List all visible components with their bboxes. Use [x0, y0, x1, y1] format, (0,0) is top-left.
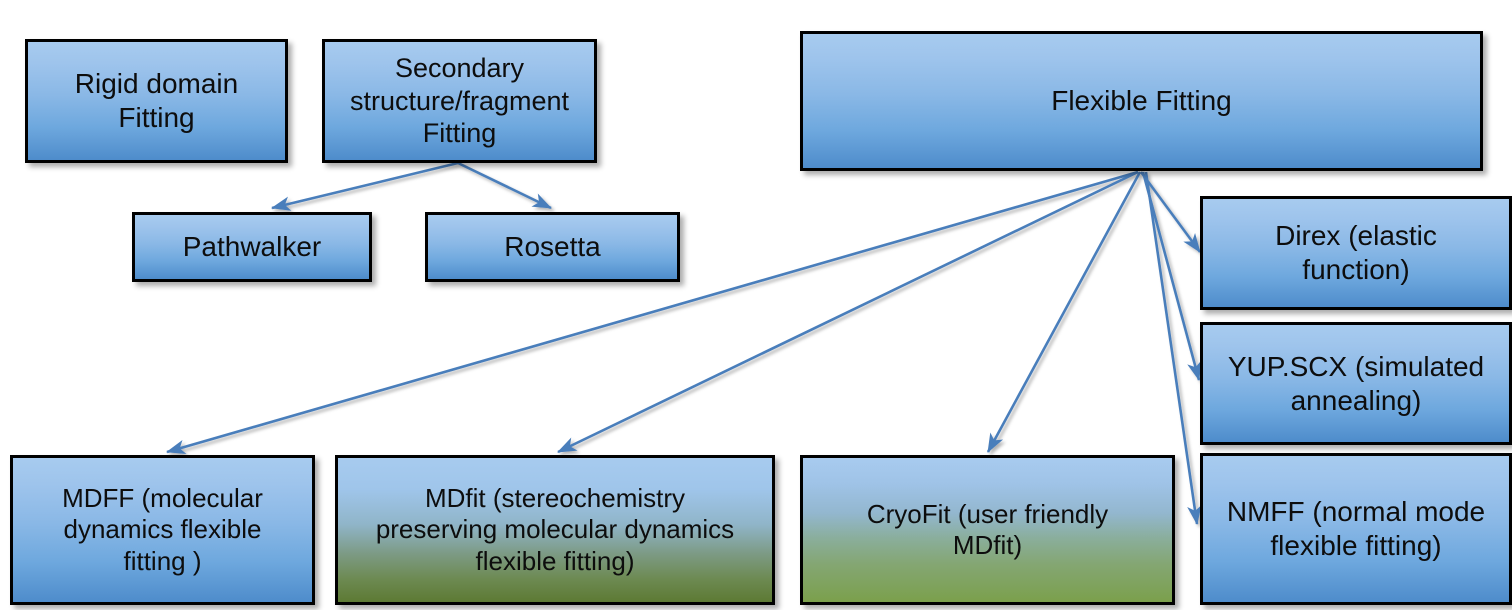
node-label-line: structure/fragment: [325, 85, 594, 117]
node-label-line: flexible fitting): [338, 546, 772, 577]
node-flexible-fitting[interactable]: Flexible Fitting: [800, 31, 1483, 171]
node-label: Direx (elasticfunction): [1203, 219, 1509, 286]
diagram-canvas: Rigid domainFittingSecondarystructure/fr…: [0, 0, 1512, 610]
node-mdfit[interactable]: MDfit (stereochemistrypreserving molecul…: [335, 455, 775, 605]
node-label: MDFF (moleculardynamics flexiblefitting …: [13, 483, 312, 577]
node-label-line: Pathwalker: [135, 230, 369, 264]
edge-flexible-to-cryofit: [988, 172, 1140, 452]
node-label-line: MDfit): [803, 530, 1172, 561]
node-yup-scx[interactable]: YUP.SCX (simulatedannealing): [1200, 322, 1512, 445]
node-label-line: NMFF (normal mode: [1203, 495, 1509, 529]
node-label-line: annealing): [1203, 384, 1509, 418]
node-label: NMFF (normal modeflexible fitting): [1203, 495, 1509, 562]
node-label: Flexible Fitting: [803, 84, 1480, 118]
node-label: YUP.SCX (simulatedannealing): [1203, 350, 1509, 417]
node-pathwalker[interactable]: Pathwalker: [132, 212, 372, 282]
node-rigid-domain-fitting[interactable]: Rigid domainFitting: [25, 39, 288, 163]
node-label-line: YUP.SCX (simulated: [1203, 350, 1509, 384]
node-label-line: Direx (elastic: [1203, 219, 1509, 253]
node-label-line: Rigid domain: [28, 67, 285, 101]
node-label-line: CryoFit (user friendly: [803, 499, 1172, 530]
node-cryofit[interactable]: CryoFit (user friendlyMDfit): [800, 455, 1175, 605]
node-label: Rosetta: [428, 230, 677, 264]
node-label-line: Fitting: [28, 101, 285, 135]
node-rosetta[interactable]: Rosetta: [425, 212, 680, 282]
node-label-line: Secondary: [325, 52, 594, 84]
node-label: Pathwalker: [135, 230, 369, 264]
node-direx[interactable]: Direx (elasticfunction): [1200, 196, 1512, 310]
node-label: Rigid domainFitting: [28, 67, 285, 134]
node-label-line: preserving molecular dynamics: [338, 514, 772, 545]
node-secondary-structure-fitting[interactable]: Secondarystructure/fragmentFitting: [322, 39, 597, 163]
node-label-line: Rosetta: [428, 230, 677, 264]
node-label: CryoFit (user friendlyMDfit): [803, 499, 1172, 561]
edge-secondary-to-pathwalker: [272, 163, 458, 208]
node-label-line: dynamics flexible: [13, 514, 312, 545]
node-label-line: MDFF (molecular: [13, 483, 312, 514]
node-label-line: MDfit (stereochemistry: [338, 483, 772, 514]
node-label: MDfit (stereochemistrypreserving molecul…: [338, 483, 772, 577]
node-label-line: flexible fitting): [1203, 529, 1509, 563]
node-label-line: Flexible Fitting: [803, 84, 1480, 118]
edge-flexible-to-yupscx: [1143, 172, 1199, 380]
node-label-line: fitting ): [13, 546, 312, 577]
edge-flexible-to-direx: [1141, 172, 1200, 252]
edge-secondary-to-rosetta: [458, 163, 551, 208]
node-label: Secondarystructure/fragmentFitting: [325, 52, 594, 149]
node-mdff[interactable]: MDFF (moleculardynamics flexiblefitting …: [10, 455, 315, 605]
node-label-line: function): [1203, 253, 1509, 287]
node-label-line: Fitting: [325, 117, 594, 149]
node-nmff[interactable]: NMFF (normal modeflexible fitting): [1200, 453, 1512, 605]
